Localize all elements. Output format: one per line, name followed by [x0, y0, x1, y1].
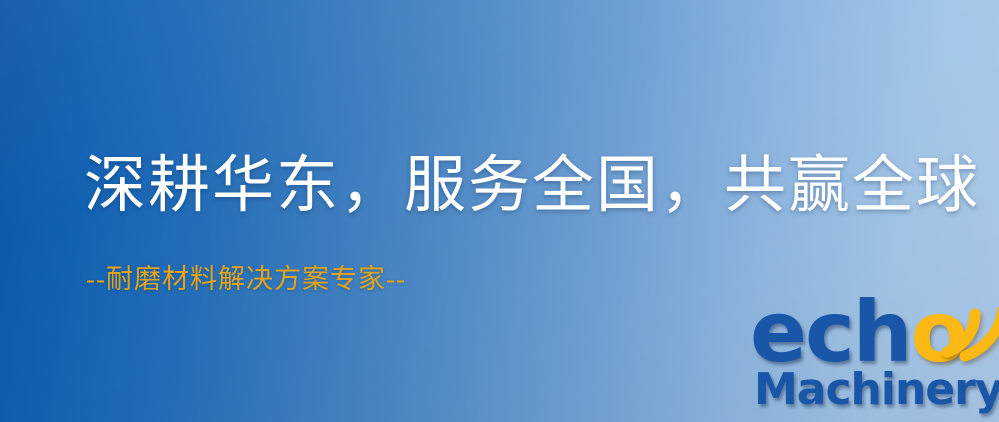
signal-waves-icon: [941, 294, 999, 364]
logo-echo-text: echo: [750, 290, 966, 374]
logo-machinery-label: Machinery: [754, 364, 999, 415]
banner-headline: 深耕华东，服务全国，共赢全球: [84, 155, 980, 217]
logo-wordmark: echo: [748, 296, 999, 374]
promo-banner: 深耕华东，服务全国，共赢全球 --耐磨材料解决方案专家-- echo Machi…: [0, 0, 999, 422]
banner-subtitle: --耐磨材料解决方案专家--: [86, 266, 406, 293]
logo-machinery-text: Machinery®: [754, 368, 999, 412]
company-logo: echo Machinery®: [748, 296, 999, 422]
